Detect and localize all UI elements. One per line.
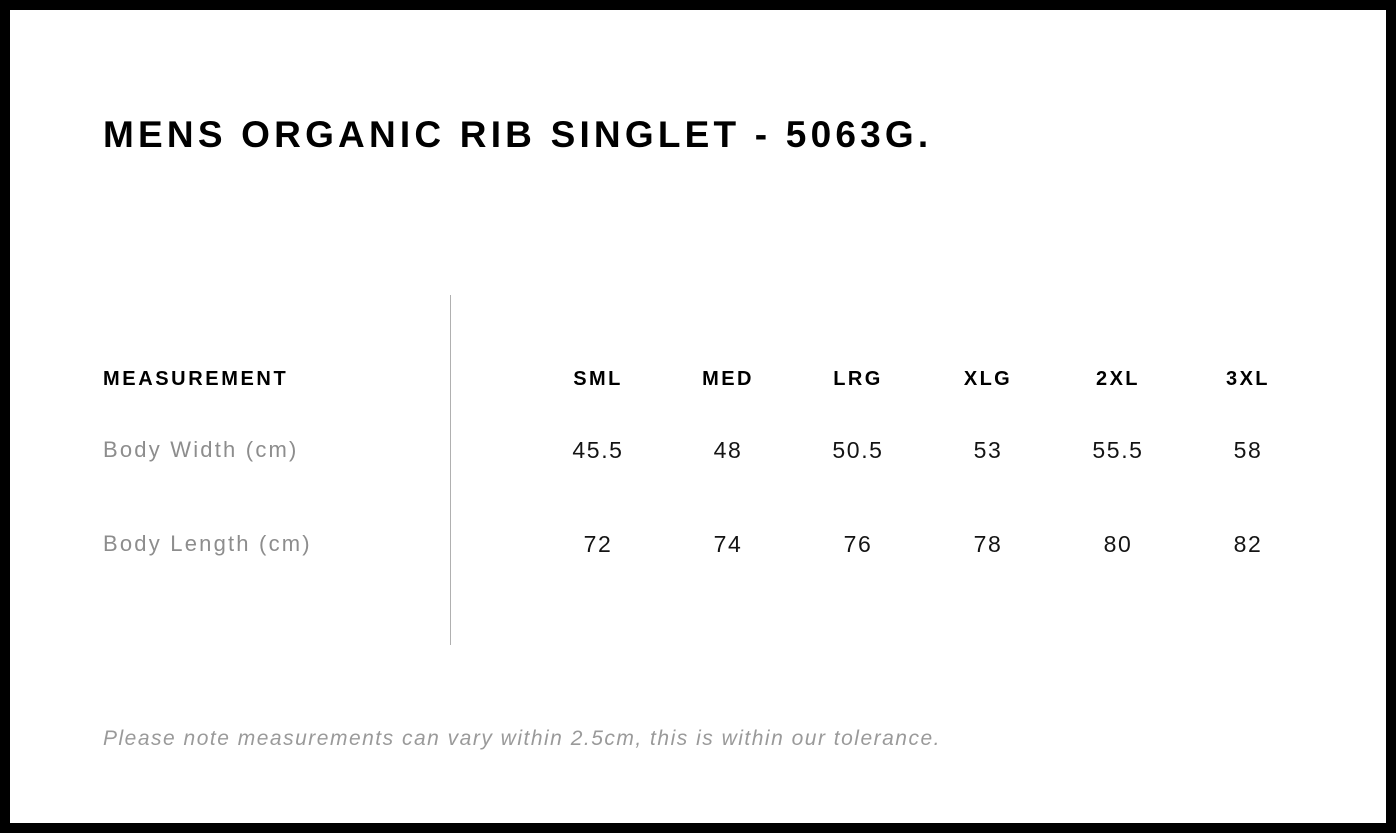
cell-body-width-lrg: 50.5 xyxy=(793,403,923,497)
column-header-3xl: 3XL xyxy=(1183,355,1313,403)
table-row: Body Length (cm) 72 74 76 78 80 82 xyxy=(103,497,1313,591)
cell-body-length-lrg: 76 xyxy=(793,497,923,591)
cell-body-length-xlg: 78 xyxy=(923,497,1053,591)
cell-body-length-3xl: 82 xyxy=(1183,497,1313,591)
cell-body-width-sml: 45.5 xyxy=(533,403,663,497)
column-header-2xl: 2XL xyxy=(1053,355,1183,403)
table-row: Body Width (cm) 45.5 48 50.5 53 55.5 58 xyxy=(103,403,1313,497)
column-header-measurement: MEASUREMENT xyxy=(103,355,533,403)
column-header-xlg: XLG xyxy=(923,355,1053,403)
row-label-body-length: Body Length (cm) xyxy=(103,497,533,591)
column-header-sml: SML xyxy=(533,355,663,403)
page-title: MENS ORGANIC RIB SINGLET - 5063G. xyxy=(103,116,932,153)
column-header-lrg: LRG xyxy=(793,355,923,403)
size-chart-card: MENS ORGANIC RIB SINGLET - 5063G. MEASUR… xyxy=(10,10,1386,823)
row-label-body-width: Body Width (cm) xyxy=(103,403,533,497)
cell-body-length-2xl: 80 xyxy=(1053,497,1183,591)
column-header-med: MED xyxy=(663,355,793,403)
cell-body-width-2xl: 55.5 xyxy=(1053,403,1183,497)
tolerance-footnote: Please note measurements can vary within… xyxy=(103,727,941,751)
table-header-row: MEASUREMENT SML MED LRG XLG 2XL 3XL xyxy=(103,355,1313,403)
cell-body-width-3xl: 58 xyxy=(1183,403,1313,497)
cell-body-length-med: 74 xyxy=(663,497,793,591)
cell-body-width-med: 48 xyxy=(663,403,793,497)
cell-body-width-xlg: 53 xyxy=(923,403,1053,497)
size-chart-table: MEASUREMENT SML MED LRG XLG 2XL 3XL Body… xyxy=(103,355,1313,591)
cell-body-length-sml: 72 xyxy=(533,497,663,591)
